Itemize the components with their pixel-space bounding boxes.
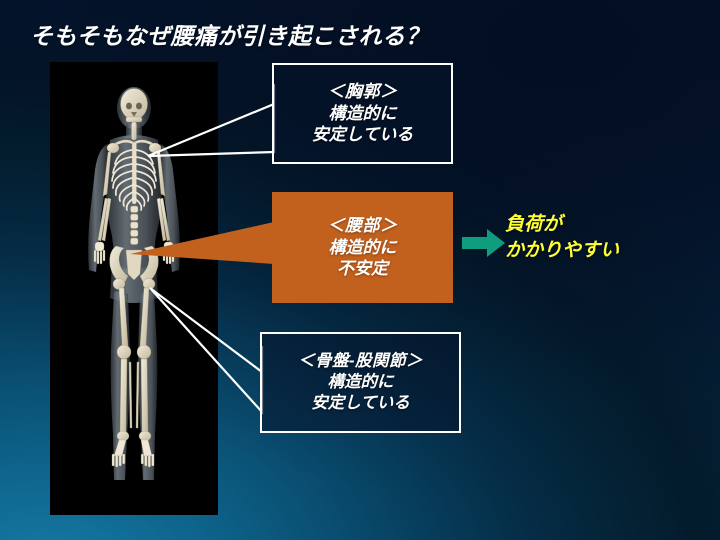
- slide-title: そもそもなぜ腰痛が引き起こされる？: [30, 17, 429, 51]
- callout-pelvis-head: ＜骨盤-股関節＞: [298, 351, 423, 372]
- callout-lumbar-line2: 構造的に: [329, 237, 397, 259]
- annotation-line1: 負荷が: [505, 212, 619, 238]
- anatomy-illustration: [78, 84, 190, 504]
- callout-lumbar-head: ＜腰部＞: [328, 215, 398, 237]
- annotation-text: 負荷が かかりやすい: [505, 212, 619, 263]
- callout-pelvis-line2: 構造的に: [328, 372, 394, 393]
- callout-lumbar[interactable]: ＜腰部＞ 構造的に 不安定: [272, 192, 453, 303]
- callout-thorax-line3: 安定している: [312, 124, 414, 146]
- right-arrow-icon: [462, 228, 506, 258]
- annotation-line2: かかりやすい: [505, 238, 619, 264]
- callout-lumbar-line3: 不安定: [337, 258, 388, 280]
- slide-canvas: そもそもなぜ腰痛が引き起こされる？: [0, 0, 720, 540]
- callout-thorax[interactable]: ＜胸郭＞ 構造的に 安定している: [272, 63, 453, 164]
- callout-pelvis[interactable]: ＜骨盤-股関節＞ 構造的に 安定している: [260, 332, 461, 433]
- callout-thorax-head: ＜胸郭＞: [328, 81, 398, 103]
- callout-thorax-line2: 構造的に: [329, 103, 397, 125]
- annotation-arrow-wrap: [462, 228, 506, 258]
- skeleton-image-inner: [50, 62, 218, 515]
- callout-pelvis-line3: 安定している: [311, 393, 410, 414]
- skeleton-image: [50, 62, 218, 515]
